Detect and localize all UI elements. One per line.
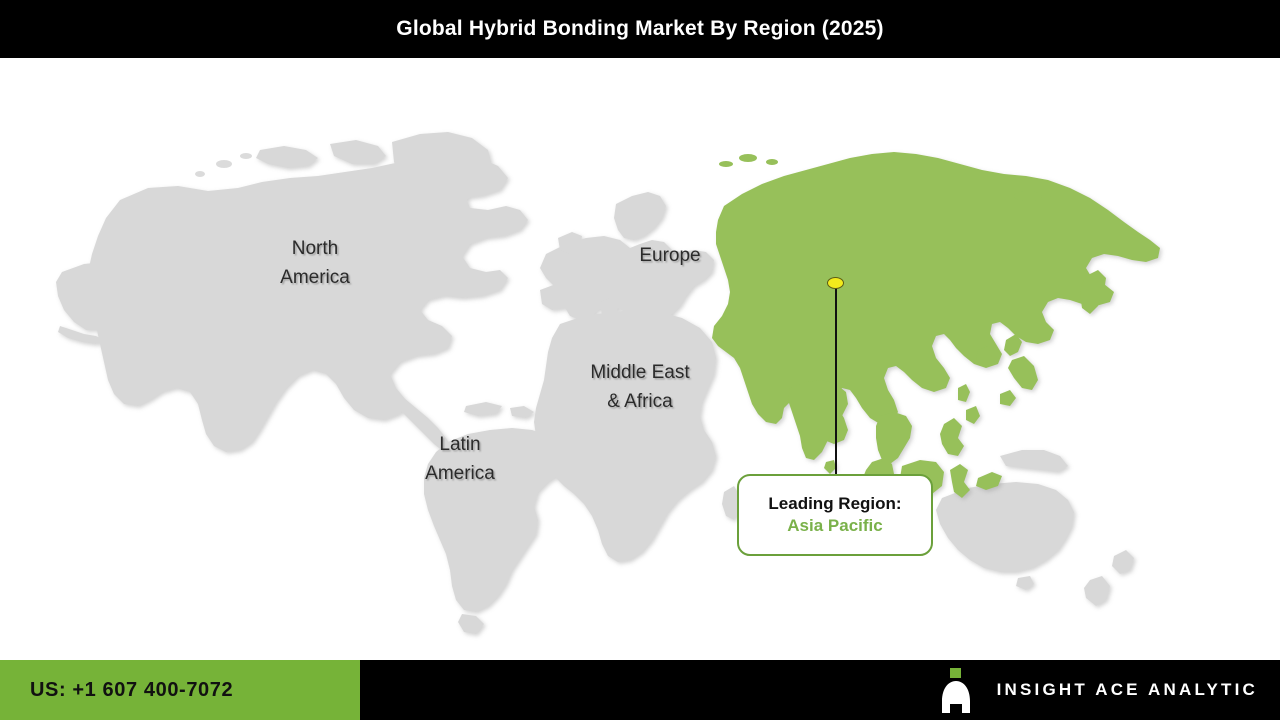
leading-region-pointer-line — [835, 284, 837, 474]
footer-phone-number: US: +1 607 400-7072 — [30, 679, 233, 702]
landmass-papua-new-guinea — [1000, 450, 1068, 472]
arctic-specks — [195, 153, 252, 177]
highlight-sulawesi — [950, 464, 970, 498]
highlight-india — [788, 380, 848, 460]
leading-region-marker-dot — [827, 277, 844, 289]
world-map: North America Europe Middle East & Afric… — [0, 58, 1280, 660]
brand-name: INSIGHT ACE ANALYTIC — [997, 680, 1258, 700]
landmass-central-america — [386, 390, 452, 452]
highlight-philippines-2 — [966, 406, 980, 424]
highlight-southeast-asia — [876, 412, 912, 464]
landmass-south-america-tip — [458, 614, 484, 634]
landmass-new-zealand-2 — [1084, 576, 1110, 606]
world-map-svg — [0, 58, 1280, 660]
leading-region-callout[interactable]: Leading Region: Asia Pacific — [737, 474, 933, 556]
callout-value: Asia Pacific — [787, 516, 882, 536]
landmass-caribbean-2 — [510, 406, 534, 418]
logo-mark-icon — [937, 668, 977, 714]
highlight-taiwan — [958, 384, 970, 402]
highlight-asia-pacific-group — [712, 152, 1160, 516]
insight-ace-logo-icon — [937, 668, 977, 712]
callout-title: Leading Region: — [768, 494, 901, 514]
landmass-arctic-islands-2 — [330, 140, 386, 164]
landmass-new-zealand — [1112, 550, 1134, 574]
landmass-arctic-islands — [256, 146, 318, 168]
header-bar: Global Hybrid Bonding Market By Region (… — [0, 0, 1280, 58]
highlight-japan-2 — [1008, 356, 1038, 390]
footer-phone-block[interactable]: US: +1 607 400-7072 — [0, 660, 360, 720]
landmass-australia — [936, 482, 1074, 572]
highlight-japan-3 — [1000, 390, 1016, 406]
footer-brand: INSIGHT ACE ANALYTIC — [937, 660, 1258, 720]
page-title: Global Hybrid Bonding Market By Region (… — [396, 17, 883, 41]
landmass-tasmania — [1016, 576, 1034, 590]
landmass-caribbean — [464, 402, 502, 416]
landmass-scandinavia — [614, 192, 666, 240]
footer-bar: US: +1 607 400-7072 INSIGHT ACE ANALYTIC — [0, 660, 1280, 720]
landmass-africa — [534, 310, 716, 562]
highlight-philippines — [940, 418, 964, 456]
